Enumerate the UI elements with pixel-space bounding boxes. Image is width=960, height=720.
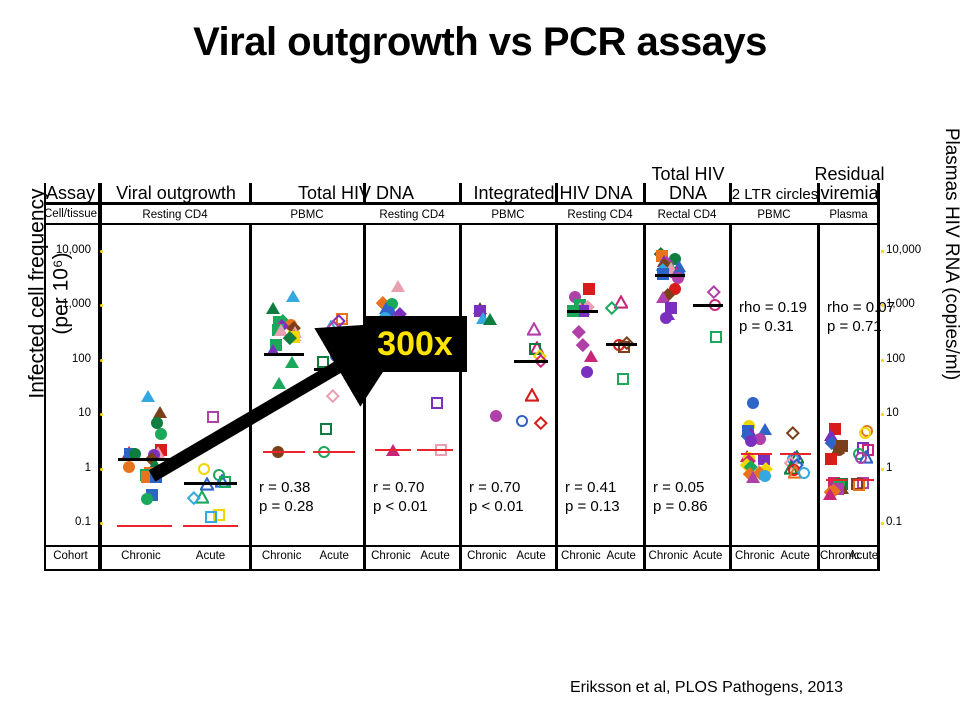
stat-r-value: rho = 0.19	[739, 299, 807, 318]
data-point-0-chronic-12	[123, 461, 135, 473]
stat-r-value: r = 0.38	[259, 479, 314, 498]
cell-tissue-2: Resting CD4	[365, 209, 459, 221]
cohort-acute-1: Acute	[306, 550, 363, 562]
median-line	[514, 360, 548, 363]
cell-tissue-5: Rectal CD4	[645, 209, 729, 221]
data-point-0-acute-0	[207, 411, 219, 423]
stat-p-value: p < 0.01	[373, 498, 428, 517]
data-point-0-chronic-19	[141, 493, 153, 505]
data-point-3-acute-6	[516, 415, 528, 427]
y-axis-tick-mark-right	[881, 250, 884, 253]
callout-300x: 300x	[363, 316, 467, 372]
data-point-3-acute-5	[525, 388, 539, 402]
cell-tissue-4: Resting CD4	[557, 209, 643, 221]
stat-annotation-3: r = 0.70p < 0.01	[469, 479, 524, 517]
data-point-5-acute-2	[710, 331, 722, 343]
detection-limit-line	[313, 451, 355, 453]
cohort-acute-5: Acute	[686, 550, 729, 562]
y-axis-tick-label-right: 100	[886, 353, 905, 365]
cohort-chronic-1: Chronic	[252, 550, 311, 562]
assay-group-header-3: Total HIV DNA	[645, 157, 731, 205]
detection-limit-line	[117, 525, 173, 527]
median-line	[314, 368, 354, 371]
grid-line	[643, 223, 646, 569]
assay-group-header-5: Residual viremia	[819, 157, 880, 205]
stat-r-value: rho = 0.07	[827, 299, 895, 318]
cohort-chronic-3: Chronic	[462, 550, 512, 562]
data-point-4-chronic-0	[583, 283, 595, 295]
cohort-chronic-2: Chronic	[366, 550, 416, 562]
data-point-5-chronic-19	[660, 312, 672, 324]
grid-line	[249, 223, 252, 569]
grid-line	[44, 223, 880, 225]
data-point-6-chronic-7	[745, 435, 757, 447]
data-point-6-chronic-0	[747, 397, 759, 409]
median-line	[655, 274, 685, 277]
cohort-acute-2: Acute	[411, 550, 459, 562]
data-point-1-chronic-18	[281, 389, 295, 403]
data-point-4-acute-5	[617, 373, 629, 385]
y-axis-tick-mark-right	[881, 359, 884, 362]
cohort-chronic-0: Chronic	[102, 550, 180, 562]
y-axis-tick-mark	[100, 468, 103, 471]
cell-tissue-0: Resting CD4	[101, 209, 249, 221]
data-point-1-acute-7	[317, 356, 329, 368]
cohort-row-label: Cohort	[44, 550, 97, 562]
grid-line	[729, 223, 732, 569]
data-point-6-acute-0	[786, 426, 800, 440]
stat-p-value: p = 0.71	[827, 318, 895, 337]
stat-r-value: r = 0.41	[565, 479, 620, 498]
data-point-0-acute-9	[205, 511, 217, 523]
median-line	[184, 482, 237, 485]
data-point-0-chronic-0	[141, 390, 155, 402]
grid-line	[44, 183, 46, 569]
data-point-1-acute-4	[327, 334, 339, 346]
stat-r-value: r = 0.70	[373, 479, 428, 498]
cohort-chronic-4: Chronic	[558, 550, 604, 562]
cohort-chronic-7: Chronic	[820, 550, 852, 562]
stat-p-value: p < 0.01	[469, 498, 524, 517]
median-line	[741, 453, 772, 455]
stat-annotation-6: rho = 0.19p = 0.31	[739, 299, 807, 337]
data-point-0-acute-1	[198, 463, 210, 475]
cohort-acute-0: Acute	[173, 550, 248, 562]
y-axis-tick-label-right: 0.1	[886, 516, 902, 528]
y-axis-tick-label-right: 1	[886, 462, 892, 474]
data-point-3-acute-7	[534, 416, 548, 430]
median-line	[853, 479, 874, 481]
y-axis-tick-mark	[100, 413, 103, 416]
y-axis-tick-mark	[100, 250, 103, 253]
stat-annotation-4: r = 0.41p = 0.13	[565, 479, 620, 517]
cell-tissue-row-label: Cell/tissue	[44, 208, 97, 220]
data-point-1-chronic-1	[266, 302, 280, 314]
stat-p-value: p = 0.31	[739, 318, 807, 337]
data-point-3-chronic-4	[490, 410, 502, 422]
data-point-1-acute-9	[320, 423, 332, 435]
data-point-6-chronic-19	[746, 471, 760, 483]
stat-r-value: r = 0.05	[653, 479, 708, 498]
y-axis-tick-label: 1	[44, 462, 91, 474]
data-point-2-acute-0	[431, 397, 443, 409]
median-line	[780, 453, 811, 455]
y-axis-tick-mark-right	[881, 413, 884, 416]
data-point-4-chronic-10	[584, 350, 598, 362]
data-point-1-acute-8	[326, 389, 340, 403]
grid-line	[459, 223, 462, 569]
data-point-1-chronic-0	[286, 290, 300, 302]
stat-p-value: p = 0.28	[259, 498, 314, 517]
median-line	[118, 458, 171, 461]
y-axis-tick-label: 100	[44, 353, 91, 365]
data-point-1-chronic-16	[285, 356, 299, 368]
y-axis-tick-label: 0.1	[44, 516, 91, 528]
median-line	[606, 343, 637, 346]
y-axis-tick-mark	[100, 522, 103, 525]
detection-limit-line	[183, 525, 239, 527]
data-point-2-chronic-0	[391, 280, 405, 292]
cell-tissue-3: PBMC	[461, 209, 555, 221]
data-point-7-acute-6	[855, 452, 867, 464]
grid-line	[98, 183, 102, 569]
assay-group-header-1: Total HIV DNA	[251, 157, 461, 205]
figure-panel-grid: 10,00010,0001,0001,0001001001010110.10.1…	[44, 183, 880, 579]
data-point-4-chronic-11	[581, 366, 593, 378]
grid-line	[817, 223, 820, 569]
cohort-acute-3: Acute	[507, 550, 555, 562]
data-point-7-acute-1	[859, 427, 871, 439]
cell-tissue-1: PBMC	[251, 209, 363, 221]
cohort-acute-4: Acute	[599, 550, 643, 562]
median-line	[567, 310, 598, 313]
grid-line	[555, 223, 558, 569]
data-point-0-chronic-3	[155, 428, 167, 440]
median-line	[693, 304, 723, 307]
data-point-6-chronic-18	[759, 470, 771, 482]
y-axis-tick-label: 1,000	[44, 298, 91, 310]
detection-limit-line	[417, 449, 453, 451]
data-point-3-chronic-3	[483, 313, 497, 325]
data-point-7-chronic-7	[825, 453, 837, 465]
stat-r-value: r = 0.70	[469, 479, 524, 498]
y-axis-tick-label-right: 10	[886, 407, 899, 419]
grid-line	[44, 569, 880, 571]
y-axis-tick-mark	[100, 359, 103, 362]
cell-tissue-6: PBMC	[731, 209, 817, 221]
data-point-3-acute-0	[527, 322, 541, 336]
grid-line	[877, 183, 880, 571]
y-axis-tick-mark-right	[881, 468, 884, 471]
detection-limit-line	[263, 451, 305, 453]
detection-limit-line	[375, 449, 411, 451]
y-axis-title-right: Plasmas HIV RNA (copies/ml)	[940, 89, 960, 419]
data-point-1-chronic-17	[272, 377, 286, 389]
stat-annotation-2: r = 0.70p < 0.01	[373, 479, 428, 517]
assay-group-header-0: Viral outgrowth	[101, 157, 251, 205]
data-point-4-chronic-8	[572, 325, 586, 339]
cohort-acute-7: Acute	[848, 550, 879, 562]
data-point-7-chronic-15	[823, 488, 837, 500]
stat-annotation-7: rho = 0.07p = 0.71	[827, 299, 895, 337]
y-axis-tick-mark-right	[881, 522, 884, 525]
y-axis-tick-label: 10,000	[44, 244, 91, 256]
stat-annotation-5: r = 0.05p = 0.86	[653, 479, 708, 517]
cohort-chronic-6: Chronic	[732, 550, 778, 562]
assay-group-header-2: Integrated HIV DNA	[461, 157, 645, 205]
median-line	[264, 353, 304, 356]
cell-tissue-7: Plasma	[819, 209, 878, 221]
assay-group-header-4: 2 LTR circles	[731, 157, 819, 205]
stat-p-value: p = 0.86	[653, 498, 708, 517]
assay-row-label: Assay	[44, 184, 97, 203]
stat-p-value: p = 0.13	[565, 498, 620, 517]
page-title: Viral outgrowth vs PCR assays	[0, 20, 960, 65]
stat-annotation-1: r = 0.38p = 0.28	[259, 479, 314, 517]
y-axis-tick-label-right: 10,000	[886, 244, 921, 256]
data-point-6-acute-9	[798, 467, 810, 479]
y-axis-tick-label: 10	[44, 407, 91, 419]
data-point-0-chronic-17	[150, 471, 162, 483]
median-line	[826, 479, 847, 481]
cohort-acute-6: Acute	[773, 550, 817, 562]
data-point-1-acute-6	[330, 355, 344, 369]
slide-canvas: Viral outgrowth vs PCR assays Eriksson e…	[0, 0, 960, 720]
data-point-5-acute-0	[707, 285, 721, 299]
cohort-chronic-5: Chronic	[646, 550, 691, 562]
citation: Eriksson et al, PLOS Pathogens, 2013	[570, 679, 843, 697]
grid-line	[363, 223, 366, 569]
grid-line	[44, 545, 880, 547]
